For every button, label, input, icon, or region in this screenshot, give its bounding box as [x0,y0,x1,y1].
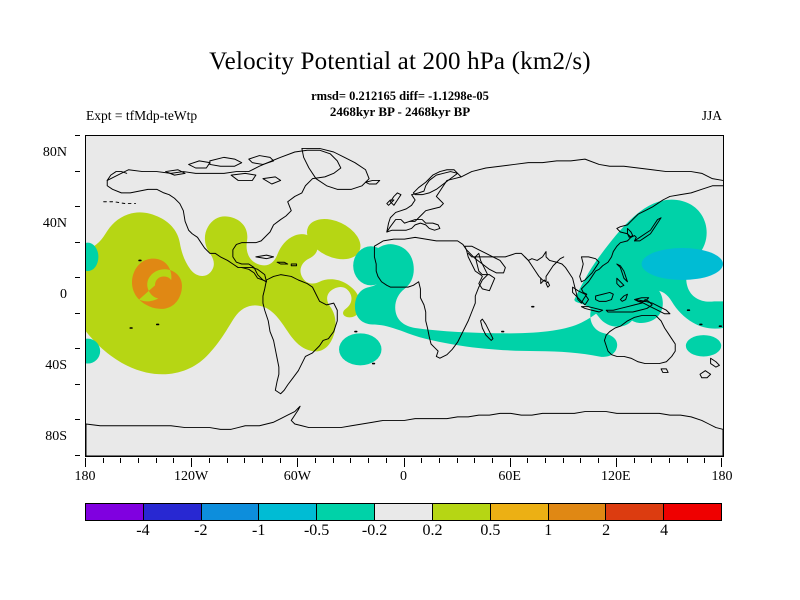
latitude-label: 0 [60,287,67,303]
longitude-tick [227,458,228,463]
longitude-label: 180 [712,469,733,485]
latitude-tick [75,419,80,420]
latitude-tick [75,171,80,172]
colorbar-segment[interactable] [663,504,721,520]
longitude-tick [492,458,493,463]
longitude-tick [634,458,635,463]
colorbar-tick-label: 1 [544,522,552,540]
longitude-tick [386,458,387,463]
longitude-tick [580,458,581,463]
latitude-tick [75,455,80,456]
longitude-tick [138,458,139,463]
colorbar-tick-label: -4 [136,522,149,540]
longitude-tick [687,458,688,463]
colorbar-tick-label: 0.5 [480,522,500,540]
colorbar-tick-label: 4 [660,522,668,540]
colorbar-tick-label: -0.2 [362,522,387,540]
contour-region-tropical-atlantic-negative [353,246,388,285]
latitude-tick [75,313,80,314]
longitude-tick [191,458,192,467]
longitude-tick [545,458,546,463]
colorbar-tick-label: -0.5 [304,522,329,540]
longitude-tick [315,458,316,463]
longitude-label: 60W [284,469,311,485]
longitude-tick [721,458,722,467]
longitude-tick [510,458,511,467]
latitude-tick [75,384,80,385]
colorbar-segment[interactable] [201,504,259,520]
longitude-label: 120E [601,469,631,485]
latitude-axis: 80N40N040S80S [25,135,80,455]
longitude-tick [297,458,298,467]
longitude-tick [421,458,422,463]
longitude-tick [404,458,405,467]
longitude-tick [103,458,104,463]
colorbar-segment[interactable] [143,504,201,520]
longitude-tick [173,458,174,463]
colorbar-tick-labels: -4-2-1-0.5-0.20.20.5124 [85,521,722,543]
latitude-label: 40S [45,358,67,374]
latitude-tick [75,277,80,278]
latitude-label: 80S [45,429,67,445]
page-title: Velocity Potential at 200 hPa (km2/s) [0,48,800,76]
colorbar-segment[interactable] [86,504,143,520]
colorbar-tick-label: -2 [194,522,207,540]
contour-region-philippine-sea-core-negative [642,248,723,280]
longitude-tick [156,458,157,463]
colorbar-tick-label: 2 [602,522,610,540]
longitude-label: 180 [75,469,96,485]
longitude-tick [598,458,599,463]
season-label: JJA [702,108,722,124]
longitude-tick [669,458,670,463]
colorbar-tick-label: -1 [252,522,265,540]
longitude-tick [280,458,281,463]
longitude-tick [262,458,263,463]
latitude-label: 40N [43,216,67,232]
longitude-label: 120W [174,469,208,485]
latitude-tick [75,206,80,207]
colorbar-tick-label: 0.2 [422,522,442,540]
latitude-tick [75,242,80,243]
longitude-tick [120,458,121,463]
longitude-tick [244,458,245,463]
longitude-tick [439,458,440,463]
longitude-tick [333,458,334,463]
latitude-tick [75,135,80,136]
longitude-tick [527,458,528,463]
rmsd-annotation: rmsd= 0.212165 diff= -1.1298e-05 [0,89,800,104]
longitude-label: 60E [498,469,521,485]
colorbar-swatches[interactable] [85,503,722,521]
longitude-tick [616,458,617,467]
longitude-tick [368,458,369,463]
experiment-label: Expt = tfMdp-teWtp [86,108,197,124]
longitude-label: 0 [400,469,407,485]
colorbar-segment[interactable] [605,504,663,520]
colorbar-segment[interactable] [374,504,432,520]
latitude-label: 80N [43,145,67,161]
longitude-tick [474,458,475,463]
world-map-svg [86,136,723,456]
colorbar-segment[interactable] [490,504,548,520]
longitude-tick [704,458,705,463]
contour-region-coral-sea-negative [686,335,721,356]
contour-region-south-atlantic-negative [339,333,381,365]
longitude-tick [563,458,564,463]
colorbar[interactable]: -4-2-1-0.5-0.20.20.5124 [85,503,722,543]
colorbar-segment[interactable] [316,504,374,520]
colorbar-segment[interactable] [258,504,316,520]
longitude-tick [457,458,458,463]
longitude-tick [651,458,652,463]
longitude-axis: 180120W60W060E120E180 [85,458,722,484]
colorbar-segment[interactable] [548,504,606,520]
longitude-tick [85,458,86,467]
longitude-tick [350,458,351,463]
map-plot-area[interactable] [85,135,724,457]
latitude-tick [75,348,80,349]
longitude-tick [209,458,210,463]
colorbar-segment[interactable] [432,504,490,520]
